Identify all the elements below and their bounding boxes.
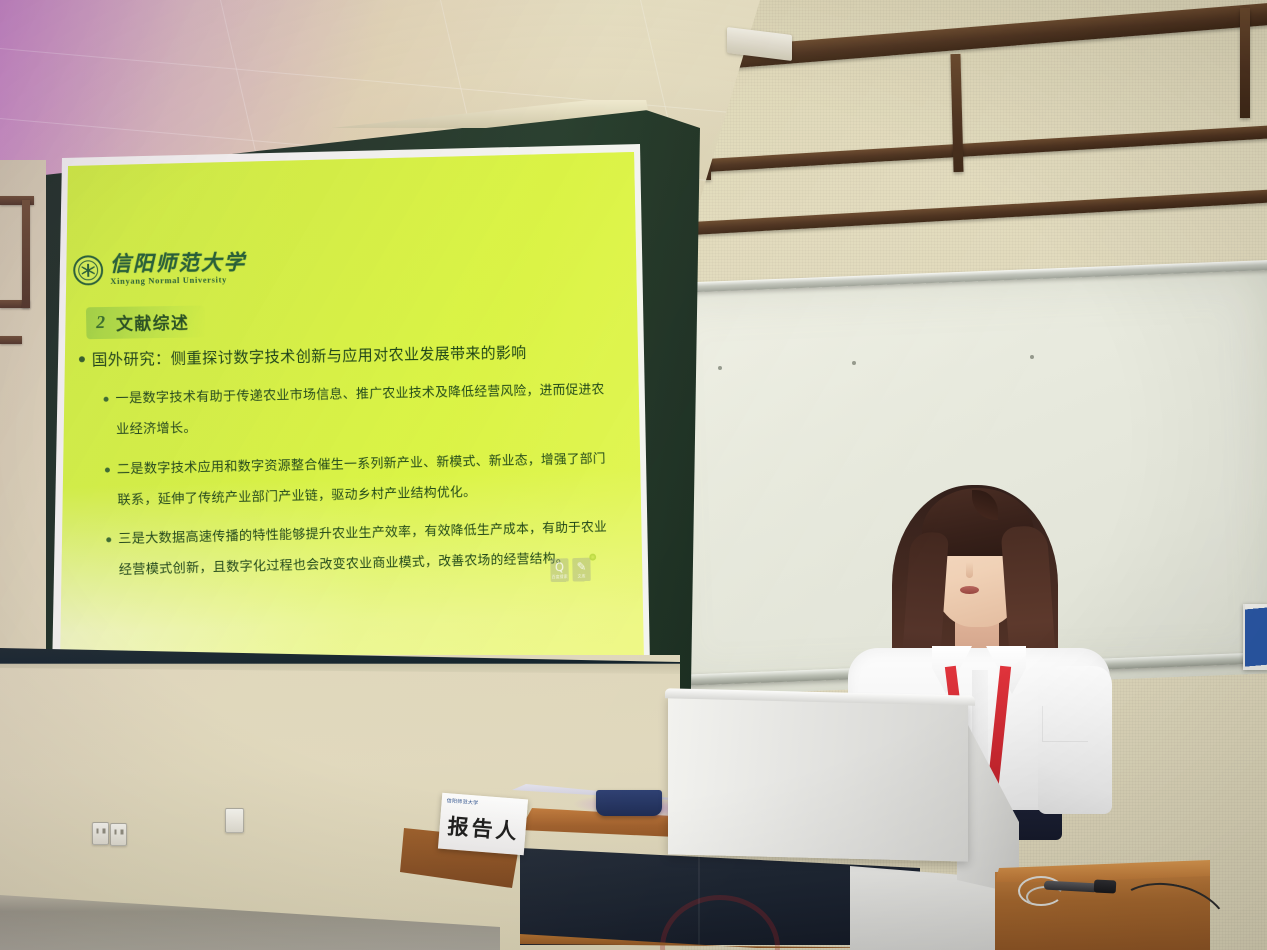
rail-screw xyxy=(718,366,722,370)
bullet-text: 三是大数据高速传播的特性能够提升农业生产效率，有效降低生产成本，有助于农业经营模… xyxy=(118,512,620,586)
watermark-sub: 文库 xyxy=(578,573,586,579)
rail-screw xyxy=(1030,355,1034,359)
slide-bullet-list: 国外研究：侧重探讨数字技术创新与应用对农业发展带来的影响 一是数字技术有助于传递… xyxy=(79,340,621,595)
section-number: 2 xyxy=(96,312,105,333)
watermark-glyph: Q xyxy=(555,561,564,573)
microphone-clip[interactable] xyxy=(1094,879,1117,893)
bullet-level2: 一是数字技术有助于传递农业市场信息、推广农业技术及降低经营风险，进而促进农业经济… xyxy=(103,375,617,447)
university-seal-icon xyxy=(73,255,103,285)
bullet-dot-icon xyxy=(106,537,111,542)
bullet-text: 国外研究：侧重探讨数字技术创新与应用对农业发展带来的影响 xyxy=(92,342,527,372)
nose xyxy=(966,562,973,578)
power-outlet-right[interactable] xyxy=(110,823,127,846)
section-title: 文献综述 xyxy=(116,309,190,335)
light-switch[interactable] xyxy=(225,808,244,833)
slide-watermarks: Q 百度搜索 ✎ 文库 xyxy=(550,558,591,583)
nameplate: 信阳师范大学 报告人 xyxy=(438,793,528,856)
university-name-cn: 信阳师范大学 xyxy=(110,252,247,275)
left-wall-trim-vertical xyxy=(22,200,30,308)
search-watermark-icon: Q 百度搜索 xyxy=(550,558,569,582)
bullet-text: 一是数字技术有助于传递农业市场信息、推广农业技术及降低经营风险，进而促进农业经济… xyxy=(115,375,617,446)
lectern-front-panel xyxy=(668,694,968,861)
left-wall-trim-c xyxy=(0,336,22,344)
desk-panel-seam xyxy=(698,850,700,945)
university-name-en: Xinyang Normal University xyxy=(110,275,246,285)
presentation-slide: 信阳师范大学 Xinyang Normal University 2 文献综述 … xyxy=(40,140,662,680)
bullet-level2: 二是数字技术应用和数字资源整合催生一系列新产业、新模式、新业态，增强了部门联系，… xyxy=(105,443,619,516)
bullet-dot-icon xyxy=(79,356,85,362)
university-logo: 信阳师范大学 Xinyang Normal University xyxy=(73,252,247,286)
watermark-sub: 百度搜索 xyxy=(552,573,568,579)
bullet-level1: 国外研究：侧重探讨数字技术创新与应用对农业发展带来的影响 xyxy=(79,340,616,372)
blue-wall-sign xyxy=(1243,604,1267,670)
power-outlet-left[interactable] xyxy=(92,822,109,845)
mouth xyxy=(960,586,979,594)
nameplate-text: 报告人 xyxy=(447,810,521,846)
projection-screen: 信阳师范大学 Xinyang Normal University 2 文献综述 … xyxy=(40,140,662,680)
nameplate-logo: 信阳师范大学 xyxy=(446,797,478,806)
lecture-hall-photo: 信阳师范大学 Xinyang Normal University 2 文献综述 … xyxy=(0,0,1267,950)
wall-trim-vertical-c xyxy=(1240,8,1250,118)
slide-section-badge: 2 文献综述 xyxy=(86,306,205,340)
rail-screw xyxy=(852,361,856,365)
bullet-text: 二是数字技术应用和数字资源整合催生一系列新产业、新模式、新业态，增强了部门联系，… xyxy=(117,443,619,516)
blue-tray xyxy=(596,790,662,816)
watermark-glyph: ✎ xyxy=(577,560,587,572)
pen-watermark-icon: ✎ 文库 xyxy=(572,558,591,582)
bullet-dot-icon xyxy=(105,467,110,472)
bullet-dot-icon xyxy=(104,397,109,402)
bullet-level2: 三是大数据高速传播的特性能够提升农业生产效率，有效降低生产成本，有助于农业经营模… xyxy=(106,512,620,587)
